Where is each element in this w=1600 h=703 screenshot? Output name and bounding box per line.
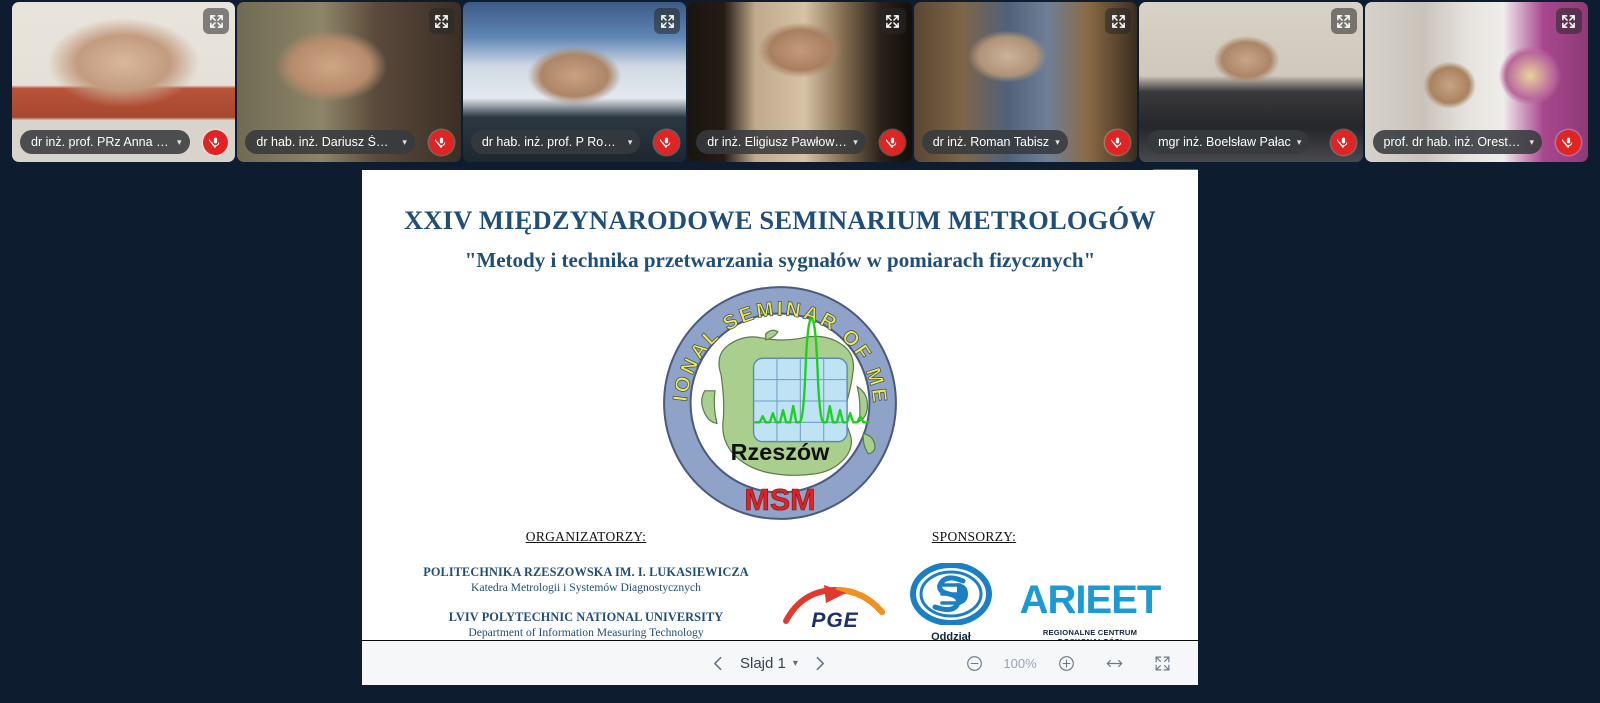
participant-name: mgr inż. Boelsław Pałac	[1158, 135, 1291, 149]
participant-name-pill[interactable]: dr inż. prof. PRz Anna Szlac… ▾	[20, 130, 190, 154]
participant-name-pill[interactable]: dr hab. inż. Dariusz Świsuls… ▾	[245, 130, 415, 154]
participant-name-pill[interactable]: dr inż. Roman Tabisz ▾	[922, 130, 1068, 154]
participant-tile[interactable]: mgr inż. Boelsław Pałac ▾	[1139, 2, 1362, 162]
participant-name: dr hab. inż. prof. P Robert …	[482, 135, 622, 149]
previous-slide-button[interactable]	[704, 649, 732, 677]
shared-slide-panel: XXIV MIĘDZYNARODOWE SEMINARIUM METROLOGÓ…	[362, 170, 1198, 640]
sponsor-logo-sep: Oddział Rzeszów	[908, 563, 994, 640]
fit-width-button[interactable]	[1100, 649, 1128, 677]
sponsors-heading: SPONSORZY:	[780, 529, 1168, 545]
organizers-column: ORGANIZATORZY: POLITECHNIKA RZESZOWSKA I…	[392, 529, 780, 640]
msm-seminar-emblem-icon: INTERNATIONAL SEMINAR OF METROLOGY MSM	[658, 281, 902, 525]
chevron-down-icon[interactable]: ▾	[1055, 137, 1060, 148]
fullscreen-button[interactable]	[1148, 649, 1176, 677]
arieet-logo-icon: ARIEET	[1012, 579, 1168, 623]
zoom-out-icon	[966, 655, 983, 672]
next-slide-button[interactable]	[806, 649, 834, 677]
participant-tile[interactable]: dr inż. Eligiusz Pawłowski ▾	[688, 2, 911, 162]
participant-name: dr hab. inż. Dariusz Świsuls…	[256, 135, 396, 149]
participant-name-pill[interactable]: prof. dr hab. inż. Orest Ivak… ▾	[1373, 130, 1543, 154]
mic-muted-icon	[1331, 130, 1356, 155]
slide-selector[interactable]: Slajd 1 ▾	[736, 655, 802, 672]
organizer-department: Department of Information Measuring Tech…	[392, 626, 780, 639]
mic-muted-icon	[1105, 130, 1130, 155]
sponsor-caption-line1: REGIONALNE CENTRUM DOSKONAŁOŚCI	[1012, 628, 1168, 640]
expand-icon[interactable]	[1331, 8, 1357, 34]
mic-muted-icon	[1556, 130, 1581, 155]
participant-name: prof. dr hab. inż. Orest Ivak…	[1384, 135, 1524, 149]
zoom-level-value: 100%	[1001, 656, 1039, 671]
slide-bottom-columns: ORGANIZATORZY: POLITECHNIKA RZESZOWSKA I…	[362, 529, 1198, 640]
chevron-right-icon	[811, 655, 828, 672]
sponsor-logo-pge: PGE PGE Dystrybucja S.A.	[780, 581, 890, 640]
slide-subtitle: "Metody i technika przetwarzania sygnałó…	[362, 248, 1198, 273]
organizers-heading: ORGANIZATORZY:	[392, 529, 780, 545]
mic-muted-icon	[880, 130, 905, 155]
zoom-controls-group: 100%	[960, 649, 1176, 677]
pge-logo-icon: PGE	[780, 581, 890, 633]
chevron-down-icon[interactable]: ▾	[1530, 137, 1535, 148]
expand-icon[interactable]	[1556, 8, 1582, 34]
participant-name-pill[interactable]: dr inż. Eligiusz Pawłowski ▾	[696, 130, 866, 154]
participant-name: dr inż. prof. PRz Anna Szlac…	[31, 135, 171, 149]
sponsors-column: SPONSORZY: PGE PGE Dystrybucja S.A.	[780, 529, 1168, 640]
expand-icon[interactable]	[203, 8, 229, 34]
organizer-entry: LVIV POLYTECHNIC NATIONAL UNIVERSITY Dep…	[392, 610, 780, 639]
participant-name-pill[interactable]: mgr inż. Boelsław Pałac ▾	[1147, 130, 1309, 154]
mic-muted-icon	[429, 130, 454, 155]
chevron-down-icon[interactable]: ▾	[402, 137, 407, 148]
fit-width-icon	[1106, 655, 1123, 672]
svg-text:MSM: MSM	[744, 483, 815, 517]
chevron-down-icon[interactable]: ▾	[628, 137, 633, 148]
participant-name-pill[interactable]: dr hab. inż. prof. P Robert … ▾	[471, 130, 641, 154]
expand-icon[interactable]	[1105, 8, 1131, 34]
sponsor-caption: Oddział Rzeszów	[908, 631, 994, 640]
svg-text:PGE: PGE	[811, 609, 858, 632]
participant-tile[interactable]: dr inż. prof. PRz Anna Szlac… ▾	[12, 2, 235, 162]
sponsor-logo-arieet: ARIEET REGIONALNE CENTRUM DOSKONAŁOŚCI P…	[1012, 579, 1168, 640]
zoom-in-icon	[1058, 655, 1075, 672]
expand-icon[interactable]	[429, 8, 455, 34]
fullscreen-icon	[1154, 655, 1171, 672]
svg-text:Rzeszów: Rzeszów	[731, 439, 831, 465]
chevron-left-icon	[710, 655, 727, 672]
organizer-entry: POLITECHNIKA RZESZOWSKA IM. I. LUKASIEWI…	[392, 565, 780, 594]
participant-name: dr inż. Eligiusz Pawłowski	[707, 135, 847, 149]
sep-logo-icon	[909, 563, 993, 625]
organizer-name: POLITECHNIKA RZESZOWSKA IM. I. LUKASIEWI…	[392, 565, 780, 580]
participant-tile[interactable]: dr hab. inż. prof. P Robert … ▾	[463, 2, 686, 162]
zoom-out-button[interactable]	[960, 649, 988, 677]
svg-text:ARIEET: ARIEET	[1020, 579, 1161, 622]
participant-tile[interactable]: prof. dr hab. inż. Orest Ivak… ▾	[1365, 2, 1588, 162]
slide-title: XXIV MIĘDZYNARODOWE SEMINARIUM METROLOGÓ…	[362, 205, 1198, 236]
organizer-department: Katedra Metrologii i Systemów Diagnostyc…	[392, 581, 780, 594]
zoom-in-button[interactable]	[1052, 649, 1080, 677]
chevron-down-icon[interactable]: ▾	[177, 137, 182, 148]
participant-tile[interactable]: dr inż. Roman Tabisz ▾	[914, 2, 1137, 162]
organizer-name: LVIV POLYTECHNIC NATIONAL UNIVERSITY	[392, 610, 780, 625]
chevron-down-icon: ▾	[793, 658, 798, 669]
zoom-group: 100%	[960, 649, 1080, 677]
expand-icon[interactable]	[880, 8, 906, 34]
chevron-down-icon[interactable]: ▾	[853, 137, 858, 148]
participant-tile[interactable]: dr hab. inż. Dariusz Świsuls… ▾	[237, 2, 460, 162]
chevron-down-icon[interactable]: ▾	[1297, 137, 1302, 148]
slide-toolbar: Slajd 1 ▾ 100%	[362, 640, 1198, 685]
slide-selector-label: Slajd 1	[740, 655, 786, 672]
sponsor-logos: PGE PGE Dystrybucja S.A. Oddział Rzeszów	[780, 563, 1168, 640]
participant-name: dr inż. Roman Tabisz	[933, 135, 1050, 149]
expand-icon[interactable]	[654, 8, 680, 34]
participant-video-strip: dr inż. prof. PRz Anna Szlac… ▾ dr hab. …	[0, 0, 1600, 165]
emblem-container: INTERNATIONAL SEMINAR OF METROLOGY MSM	[362, 281, 1198, 525]
slide-navigation-group: Slajd 1 ▾	[704, 649, 834, 677]
